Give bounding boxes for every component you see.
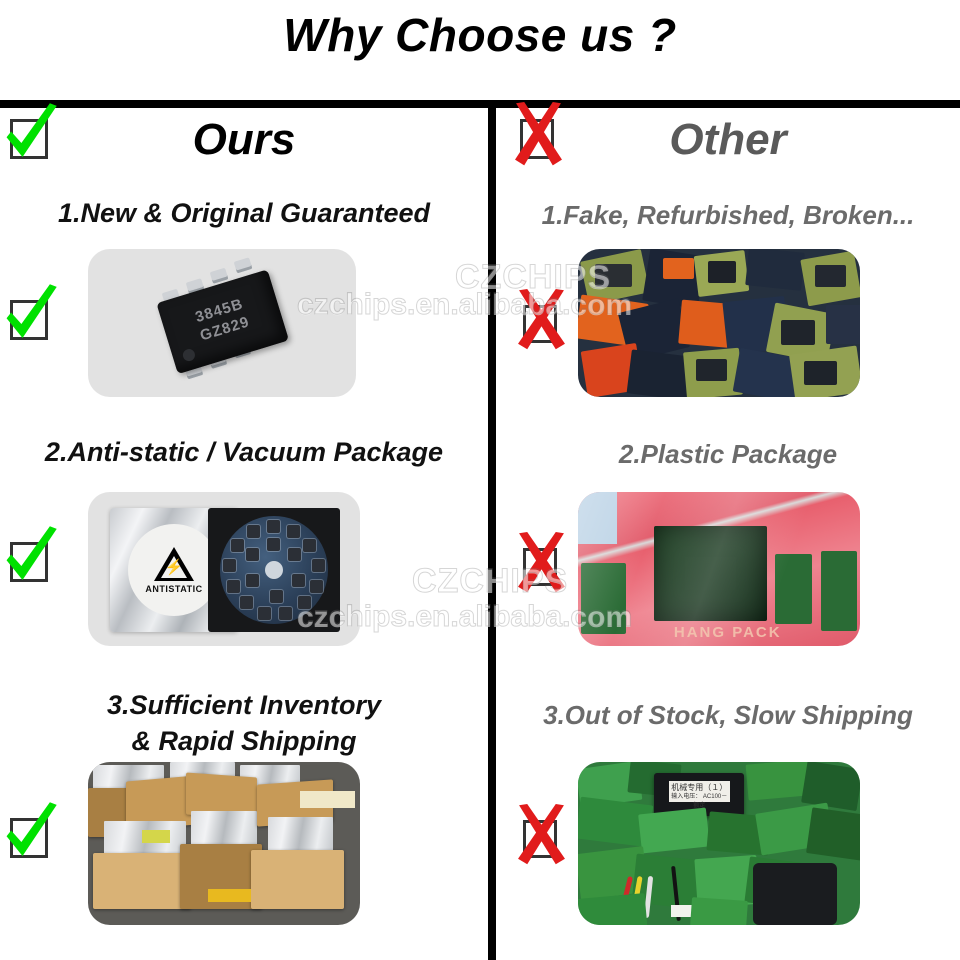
cross-glyph (516, 804, 567, 865)
module-label-line-2: 输入电压： AC100－ (669, 793, 730, 802)
cross-glyph (513, 102, 564, 166)
header-divider-line (0, 100, 960, 108)
cross-mark-icon-row-1 (523, 305, 557, 343)
scrap-pile-graphic (578, 249, 860, 397)
photo-new-original-chip: 3845B GZ829 (88, 249, 356, 397)
row-3-ours-text-line-1: 3.Sufficient Inventory (18, 687, 470, 723)
column-label-other: Other (496, 110, 960, 170)
cross-mark-icon-row-3 (523, 820, 557, 858)
component-reel (220, 516, 328, 624)
row-2-ours-text: 2.Anti-static / Vacuum Package (8, 437, 480, 468)
photo-plastic-package: HANG PACK (578, 492, 860, 646)
module-label-line-1: 机械专用（１） (669, 783, 730, 792)
check-glyph (2, 801, 59, 865)
plastic-sheen (578, 492, 860, 646)
photo-scrap-chips-pile (578, 249, 860, 397)
column-header-ours: Ours (0, 108, 488, 174)
row-3-ours-text-line-2: & Rapid Shipping (18, 723, 470, 759)
check-mark-icon-header (10, 119, 48, 159)
column-label-ours: Ours (0, 110, 488, 170)
cross-mark-icon-header (520, 119, 554, 159)
chip-graphic: 3845B GZ829 (137, 257, 307, 389)
check-mark-icon-row-1 (10, 300, 48, 340)
cross-glyph (516, 289, 567, 350)
component-tray-graphic (208, 508, 340, 632)
antistatic-label: ⚡ ANTISTATIC (128, 524, 220, 616)
page-title: Why Choose us ? (0, 8, 960, 62)
antistatic-text: ANTISTATIC (145, 584, 202, 594)
photo-scrap-pcb-pile: 机械专用（１） 输入电压： AC100－ 额定 (578, 762, 860, 925)
pink-antistatic-bag-graphic: HANG PACK (578, 492, 860, 646)
check-mark-icon-row-3 (10, 818, 48, 858)
check-glyph (2, 525, 59, 589)
check-glyph (2, 102, 59, 166)
photo-antistatic-package: ⚡ ANTISTATIC (88, 492, 360, 646)
row-2-other-text: 2.Plastic Package (500, 439, 956, 470)
check-mark-icon-row-2 (10, 542, 48, 582)
why-choose-us-infographic: Why Choose us ? Ours Other 1.New & Origi… (0, 0, 960, 960)
cross-mark-icon-row-2 (523, 548, 557, 586)
green-scrap-graphic: 机械专用（１） 输入电压： AC100－ 额定 (578, 762, 860, 925)
cartons-graphic (88, 762, 360, 925)
column-header-other: Other (496, 108, 960, 174)
cross-glyph (516, 532, 567, 593)
row-1-other-text: 1.Fake, Refurbished, Broken... (500, 200, 956, 231)
row-3-other-text: 3.Out of Stock, Slow Shipping (498, 700, 958, 731)
reel-hub (265, 561, 283, 579)
lightning-bolt-icon: ⚡ (165, 560, 184, 575)
row-1-ours-text: 1.New & Original Guaranteed (18, 198, 470, 229)
bag-print-text: HANG PACK (674, 624, 782, 641)
photo-inventory-cartons (88, 762, 360, 925)
module-label: 机械专用（１） 输入电压： AC100－ 额定 (669, 781, 730, 802)
column-divider-line (488, 106, 496, 960)
check-glyph (2, 283, 59, 347)
row-3-ours-text: 3.Sufficient Inventory & Rapid Shipping (18, 687, 470, 759)
